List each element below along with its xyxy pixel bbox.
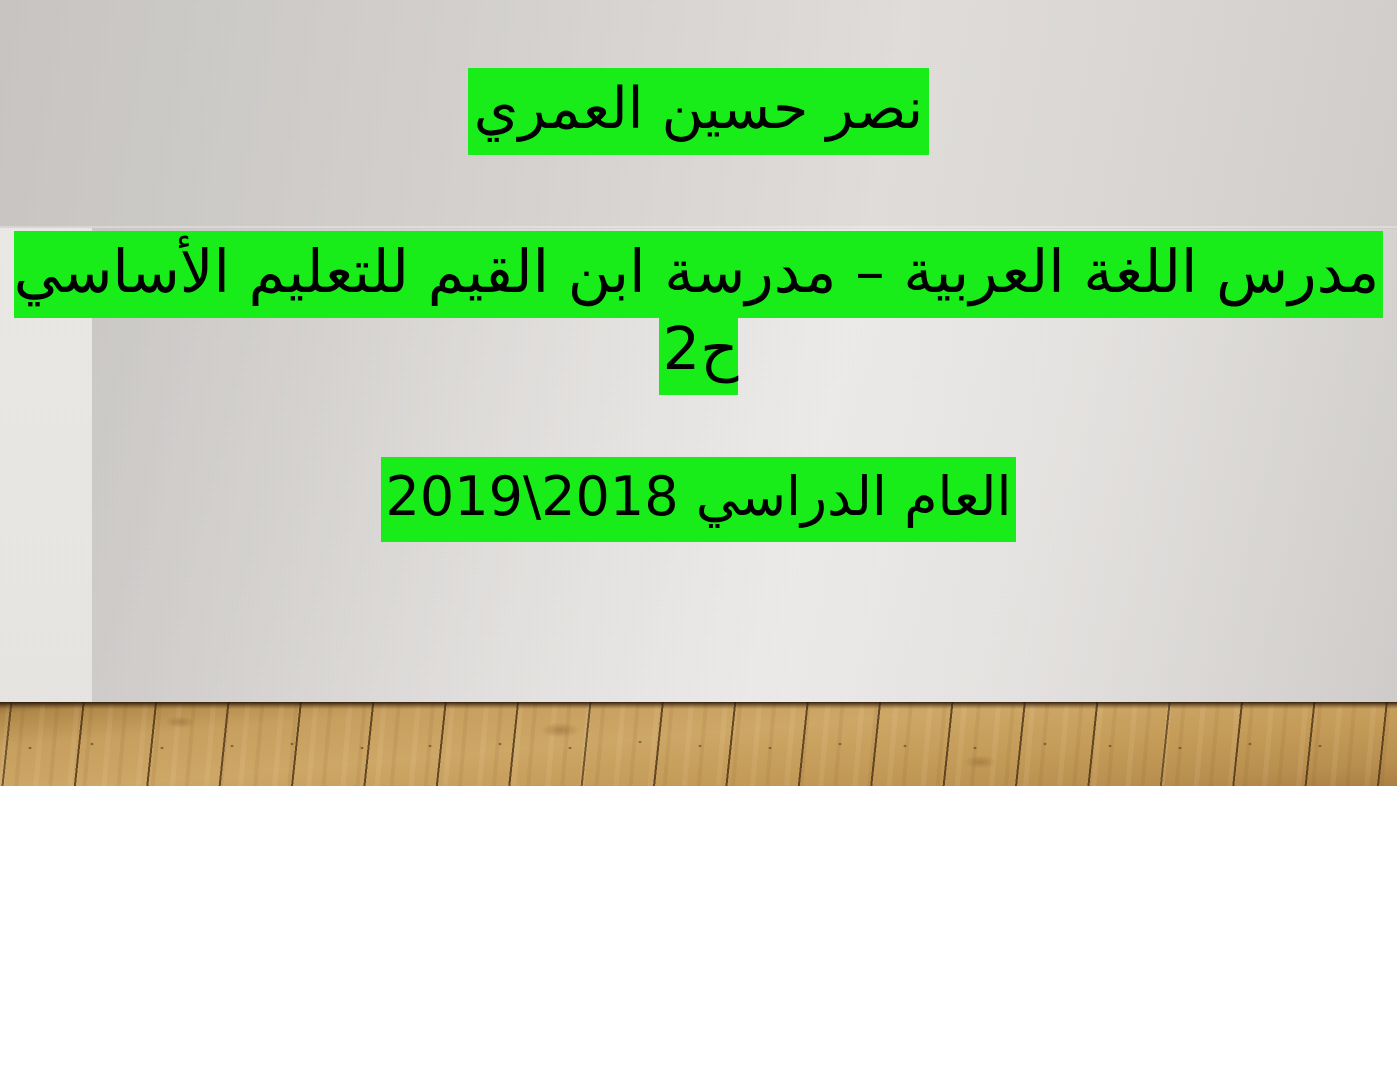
role-and-school-text: مدرس اللغة العربية – مدرسة ابن القيم للت… — [14, 231, 1383, 395]
academic-year-line: العام الدراسي 2018\2019 — [0, 470, 1397, 524]
wooden-floor — [0, 702, 1397, 786]
presentation-slide: العام الدراسي نصر حسين العمري مدرس اللغة… — [0, 0, 1397, 1080]
teacher-name-line: نصر حسين العمري — [0, 81, 1397, 138]
academic-year-text: العام الدراسي 2018\2019 — [381, 457, 1017, 542]
teacher-name-text: نصر حسين العمري — [468, 68, 929, 155]
floor-wall-junction-shadow — [0, 702, 1397, 709]
role-and-school-line: مدرس اللغة العربية – مدرسة ابن القيم للت… — [0, 234, 1397, 387]
floor-knots-and-nails — [0, 702, 1397, 786]
